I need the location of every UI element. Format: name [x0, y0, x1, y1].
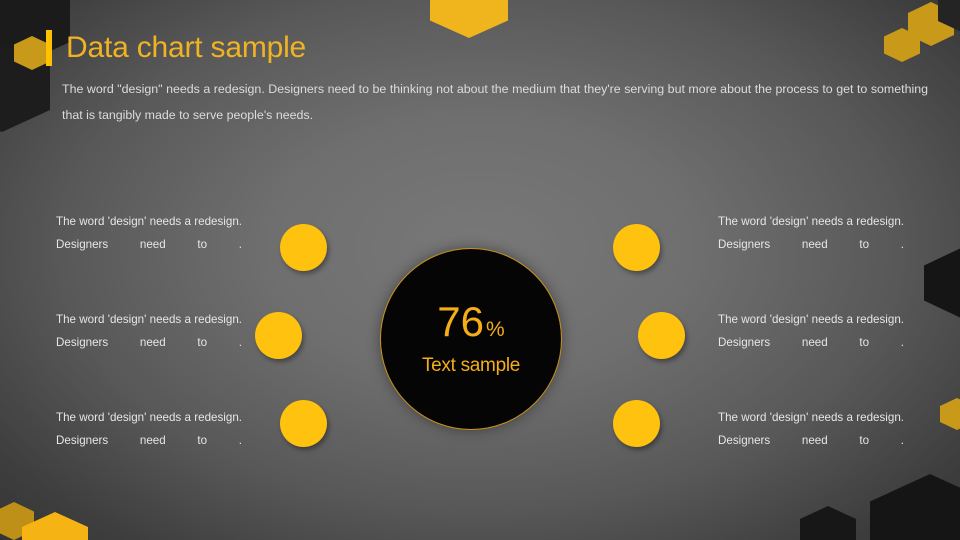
callout-dot-right-2[interactable] [638, 312, 685, 359]
callout-dot-right-1[interactable] [613, 224, 660, 271]
center-stat-value-group: 76% [437, 301, 504, 343]
callout-left-1-text: The word 'design' needs a redesign. Desi… [56, 210, 242, 280]
center-stat-label: Text sample [422, 355, 520, 377]
center-stat-circle: 76% Text sample [380, 248, 562, 430]
callout-left-2: The word 'design' needs a redesign. Desi… [56, 306, 346, 380]
hexagon-decor-gold-bottomleft-bright [22, 512, 88, 540]
hexagon-decor-dark-topleft-b [0, 44, 50, 132]
hexagon-decor-gold-topright-b [884, 28, 920, 62]
callout-dot-left-1[interactable] [280, 224, 327, 271]
callout-dot-left-3[interactable] [280, 400, 327, 447]
intro-paragraph: The word "design" needs a redesign. Desi… [62, 76, 928, 128]
callout-right-3-text: The word 'design' needs a redesign. Desi… [718, 406, 904, 476]
slide-canvas: Data chart sample The word "design" need… [0, 0, 960, 540]
hexagon-decor-gold-topcenter [430, 0, 508, 38]
slide-title: Data chart sample [46, 26, 306, 70]
callout-dot-left-2[interactable] [255, 312, 302, 359]
center-stat-unit: % [486, 319, 505, 340]
hexagon-decor-gold-topright-a [908, 2, 954, 46]
callout-left-2-text: The word 'design' needs a redesign. Desi… [56, 308, 242, 378]
center-stat-value: 76 [437, 301, 484, 343]
title-accent-bar [46, 30, 52, 66]
hexagon-decor-dark-topright [938, 0, 960, 34]
hexagon-decor-gold-bottomleft-muted [0, 502, 34, 540]
hexagon-decor-gold-topleft [14, 36, 50, 70]
callout-dot-right-3[interactable] [613, 400, 660, 447]
title-text: Data chart sample [66, 31, 306, 65]
callout-left-3-text: The word 'design' needs a redesign. Desi… [56, 406, 242, 476]
callout-right-1-text: The word 'design' needs a redesign. Desi… [718, 210, 904, 280]
hexagon-decor-dark-bottomright-a [800, 506, 856, 540]
callout-right-2-text: The word 'design' needs a redesign. Desi… [718, 308, 904, 378]
